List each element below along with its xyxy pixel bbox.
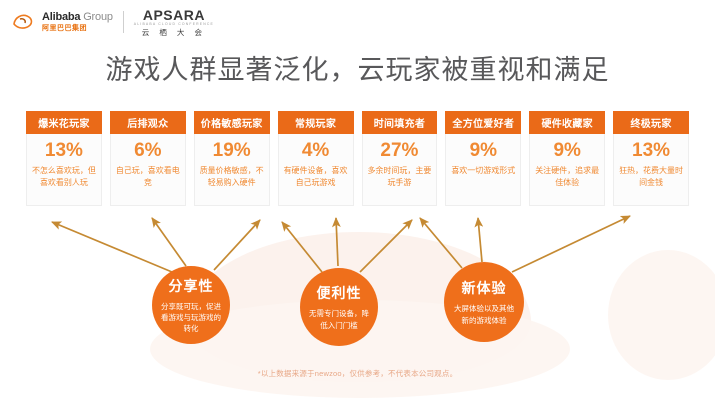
segment-description: 多余时间玩，主要玩手游 — [363, 165, 437, 188]
segment-body: 19% 质量价格敏感，不轻易购入硬件 — [194, 134, 270, 206]
driver-subtitle: 分享既可玩，促进看游戏与玩游戏的转化 — [152, 301, 230, 335]
segment-label: 价格敏感玩家 — [194, 111, 270, 134]
segment-percentage: 4% — [302, 141, 329, 160]
arrow-to-card-8 — [478, 218, 482, 262]
segment-label: 常规玩家 — [278, 111, 354, 134]
segment-body: 27% 多余时间玩，主要玩手游 — [362, 134, 438, 206]
segment-percentage: 9% — [470, 141, 497, 160]
segment-card[interactable]: 时间填充者 27% 多余时间玩，主要玩手游 — [362, 111, 438, 206]
segment-description: 质量价格敏感，不轻易购入硬件 — [195, 165, 269, 188]
segment-body: 13% 狂热，花费大量时间金钱 — [613, 134, 689, 206]
segment-body: 4% 有硬件设备，喜欢自己玩游戏 — [278, 134, 354, 206]
arrow-to-card-7 — [420, 218, 462, 268]
segment-label: 后排观众 — [110, 111, 186, 134]
segment-card[interactable]: 爆米花玩家 13% 不怎么喜欢玩，但喜欢看别人玩 — [26, 111, 102, 206]
arrow-to-card-9 — [512, 216, 630, 272]
driver-subtitle: 大屏体验以及其他新的游戏体验 — [444, 303, 524, 326]
data-source-footnote: *以上数据来源于newzoo，仅供参考，不代表本公司观点。 — [0, 368, 715, 379]
segment-description: 不怎么喜欢玩，但喜欢看别人玩 — [27, 165, 101, 188]
arrow-to-card-1 — [52, 222, 172, 272]
segment-percentage: 9% — [553, 141, 580, 160]
segment-label: 终极玩家 — [613, 111, 689, 134]
segment-card[interactable]: 常规玩家 4% 有硬件设备，喜欢自己玩游戏 — [278, 111, 354, 206]
segment-percentage: 13% — [45, 141, 83, 160]
segment-body: 6% 自己玩，喜欢看电竞 — [110, 134, 186, 206]
segment-percentage: 13% — [632, 141, 670, 160]
segment-card[interactable]: 价格敏感玩家 19% 质量价格敏感，不轻易购入硬件 — [194, 111, 270, 206]
driver-circle-new-experience[interactable]: 新体验 大屏体验以及其他新的游戏体验 — [444, 262, 524, 342]
driver-subtitle: 无需专门设备，降低入门门槛 — [300, 308, 378, 331]
segment-description: 关注硬件，追求最佳体验 — [530, 165, 604, 188]
arrow-to-card-4 — [282, 222, 322, 272]
segment-body: 9% 关注硬件，追求最佳体验 — [529, 134, 605, 206]
segment-body: 9% 喜欢一切游戏形式 — [445, 134, 521, 206]
segment-card[interactable]: 全方位爱好者 9% 喜欢一切游戏形式 — [445, 111, 521, 206]
driver-circle-convenience[interactable]: 便利性 无需专门设备，降低入门门槛 — [300, 268, 378, 346]
segment-label: 全方位爱好者 — [445, 111, 521, 134]
segment-body: 13% 不怎么喜欢玩，但喜欢看别人玩 — [26, 134, 102, 206]
segment-card[interactable]: 后排观众 6% 自己玩，喜欢看电竞 — [110, 111, 186, 206]
segment-percentage: 6% — [134, 141, 161, 160]
arrow-to-card-3 — [214, 220, 260, 270]
segment-card[interactable]: 硬件收藏家 9% 关注硬件，追求最佳体验 — [529, 111, 605, 206]
arrow-to-card-2 — [152, 218, 186, 266]
driver-title: 分享性 — [169, 276, 214, 296]
segment-label: 爆米花玩家 — [26, 111, 102, 134]
driver-title: 新体验 — [462, 278, 507, 298]
segment-description: 自己玩，喜欢看电竞 — [111, 165, 185, 188]
segment-label: 硬件收藏家 — [529, 111, 605, 134]
segment-percentage: 27% — [380, 141, 418, 160]
arrow-to-card-5 — [336, 218, 338, 266]
segment-percentage: 19% — [213, 141, 251, 160]
slide-root: Alibaba Group 阿里巴巴集团 APSARA ALIBABA CLOU… — [0, 0, 715, 400]
driver-circle-sharing[interactable]: 分享性 分享既可玩，促进看游戏与玩游戏的转化 — [152, 266, 230, 344]
segment-description: 有硬件设备，喜欢自己玩游戏 — [279, 165, 353, 188]
segment-card-row: 爆米花玩家 13% 不怎么喜欢玩，但喜欢看别人玩 后排观众 6% 自己玩，喜欢看… — [26, 111, 689, 206]
segment-card[interactable]: 终极玩家 13% 狂热，花费大量时间金钱 — [613, 111, 689, 206]
segment-description: 喜欢一切游戏形式 — [447, 165, 519, 177]
driver-title: 便利性 — [317, 283, 362, 303]
segment-label: 时间填充者 — [362, 111, 438, 134]
segment-description: 狂热，花费大量时间金钱 — [614, 165, 688, 188]
arrow-to-card-6 — [360, 220, 412, 272]
